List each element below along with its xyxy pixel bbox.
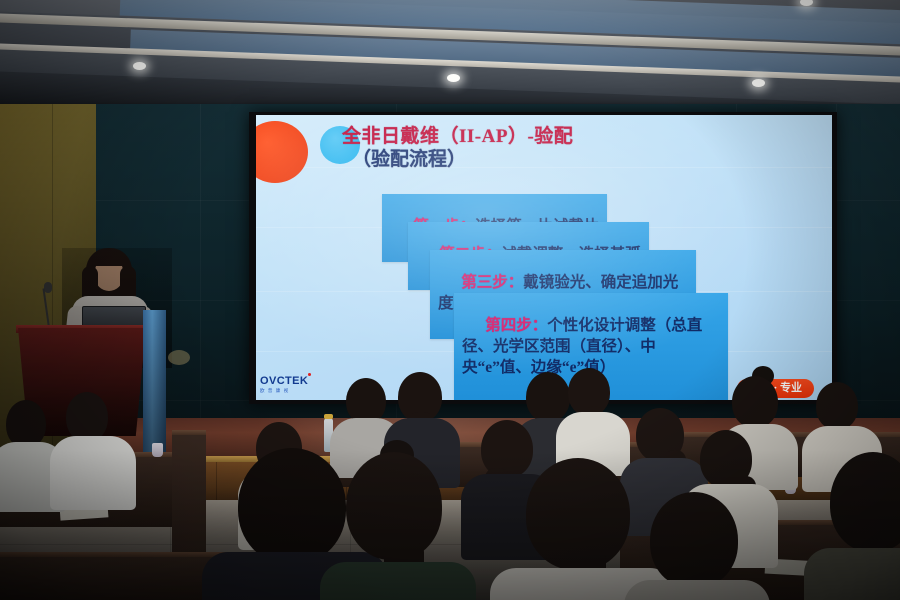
slide-step-3-number: 第三步： (461, 274, 523, 291)
ovctek-logo-subtitle: 欧普康视 (260, 388, 308, 394)
ovctek-logo-dot (308, 373, 311, 376)
slide-decoration-red-circle (256, 121, 308, 183)
ceiling-downlight (447, 74, 460, 82)
microphone-head (44, 282, 52, 293)
ovctek-logo-wordmark: OVCTEK (260, 375, 308, 387)
water-bottle-cap (324, 414, 333, 419)
lecture-hall-photo: 全非日戴维（II-AP）-验配 （验配流程） 第一步：选择第一片试戴片 第二步：… (0, 0, 900, 600)
slide-title-line1: 全非日戴维（II-AP）-验配 (342, 126, 573, 147)
coffee-cup (152, 443, 163, 457)
slide-title-line2: （验配流程） (342, 148, 812, 171)
ovctek-logo: OVCTEK 欧普康视 (260, 375, 308, 394)
ceiling-downlight (133, 62, 146, 70)
wall-light-reflection (168, 350, 190, 365)
projection-screen: 全非日戴维（II-AP）-验配 （验配流程） 第一步：选择第一片试戴片 第二步：… (256, 115, 832, 400)
ceiling-downlight (752, 79, 765, 87)
ceiling (0, 0, 900, 118)
slide-step-4-number: 第四步： (485, 317, 547, 334)
slide-title: 全非日戴维（II-AP）-验配 （验配流程） (342, 125, 812, 171)
ceiling-downlight (800, 0, 813, 6)
